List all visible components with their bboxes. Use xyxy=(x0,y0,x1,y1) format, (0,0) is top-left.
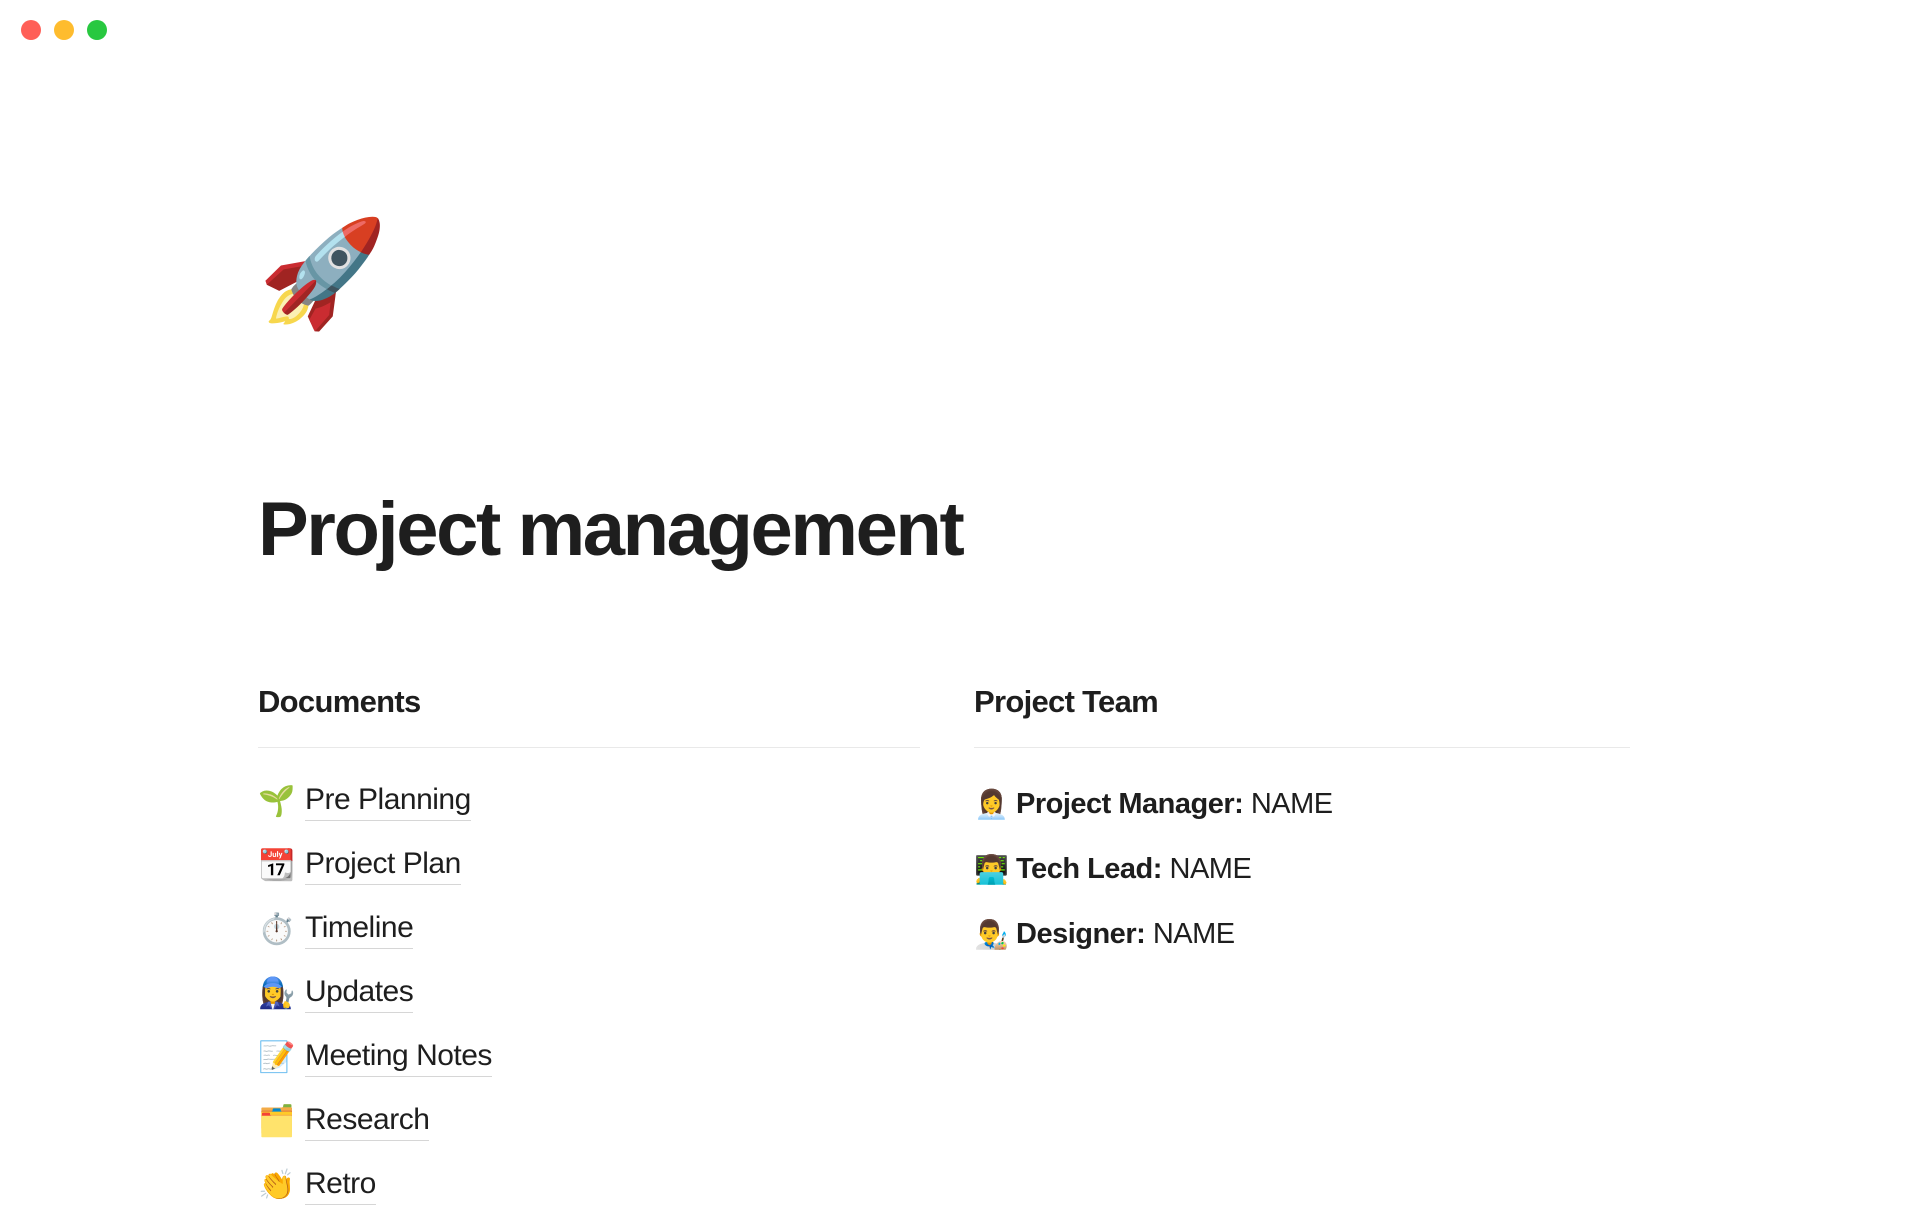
window-chrome xyxy=(0,0,1920,62)
document-link[interactable]: Updates xyxy=(305,975,413,1014)
document-link[interactable]: Meeting Notes xyxy=(305,1039,492,1078)
document-link[interactable]: Pre Planning xyxy=(305,783,471,822)
team-member-name: NAME xyxy=(1145,918,1234,950)
page-root: 🚀 Project management Documents 🌱Pre Plan… xyxy=(0,0,1920,1200)
document-list-item[interactable]: 🗂️Research xyxy=(258,1090,920,1154)
team-member-role: Project Manager: xyxy=(1016,788,1243,820)
rocket-icon[interactable]: 🚀 xyxy=(258,222,388,326)
document-list-item[interactable]: ⏱️Timeline xyxy=(258,898,920,962)
documents-list: 🌱Pre Planning📆Project Plan⏱️Timeline👩‍🔧U… xyxy=(258,770,920,1218)
team-divider xyxy=(974,747,1630,748)
document-list-item[interactable]: 📝Meeting Notes xyxy=(258,1026,920,1090)
team-member-name: NAME xyxy=(1243,788,1332,820)
stopwatch-icon: ⏱️ xyxy=(258,915,292,945)
team-column: Project Team 👩‍💼Project Manager: NAME👨‍💻… xyxy=(968,685,1678,1218)
team-list-item: 👨‍💻Tech Lead: NAME xyxy=(974,837,1630,902)
document-list-item[interactable]: 📆Project Plan xyxy=(258,834,920,898)
woman-office-worker-icon: 👩‍💼 xyxy=(974,791,1006,819)
document-link[interactable]: Timeline xyxy=(305,911,413,950)
documents-divider xyxy=(258,747,920,748)
document-list-item[interactable]: 👏Retro xyxy=(258,1154,920,1218)
page-title[interactable]: Project management xyxy=(258,492,962,568)
man-artist-icon: 👨‍🎨 xyxy=(974,921,1006,949)
card-index-dividers-icon: 🗂️ xyxy=(258,1107,292,1137)
team-member-name: NAME xyxy=(1162,853,1251,885)
man-technologist-icon: 👨‍💻 xyxy=(974,856,1006,884)
woman-mechanic-icon: 👩‍🔧 xyxy=(258,979,292,1009)
traffic-light-group xyxy=(21,20,107,40)
document-list-item[interactable]: 🌱Pre Planning xyxy=(258,770,920,834)
clapping-hands-icon: 👏 xyxy=(258,1171,292,1201)
team-list: 👩‍💼Project Manager: NAME👨‍💻Tech Lead: NA… xyxy=(974,772,1630,967)
team-heading: Project Team xyxy=(974,685,1630,719)
tear-off-calendar-icon: 📆 xyxy=(258,851,292,881)
columns-container: Documents 🌱Pre Planning📆Project Plan⏱️Ti… xyxy=(258,685,1678,1218)
team-member-text: Project Manager: NAME xyxy=(1016,788,1333,821)
team-list-item: 👩‍💼Project Manager: NAME xyxy=(974,772,1630,837)
documents-column: Documents 🌱Pre Planning📆Project Plan⏱️Ti… xyxy=(258,685,968,1218)
team-list-item: 👨‍🎨Designer: NAME xyxy=(974,902,1630,967)
document-link[interactable]: Project Plan xyxy=(305,847,461,886)
team-member-text: Tech Lead: NAME xyxy=(1016,853,1251,886)
team-member-text: Designer: NAME xyxy=(1016,918,1235,951)
team-member-role: Tech Lead: xyxy=(1016,853,1162,885)
document-list-item[interactable]: 👩‍🔧Updates xyxy=(258,962,920,1026)
document-link[interactable]: Research xyxy=(305,1103,429,1142)
maximize-button[interactable] xyxy=(87,20,107,40)
team-member-role: Designer: xyxy=(1016,918,1145,950)
close-button[interactable] xyxy=(21,20,41,40)
seedling-icon: 🌱 xyxy=(258,787,292,817)
minimize-button[interactable] xyxy=(54,20,74,40)
memo-icon: 📝 xyxy=(258,1043,292,1073)
documents-heading: Documents xyxy=(258,685,920,719)
